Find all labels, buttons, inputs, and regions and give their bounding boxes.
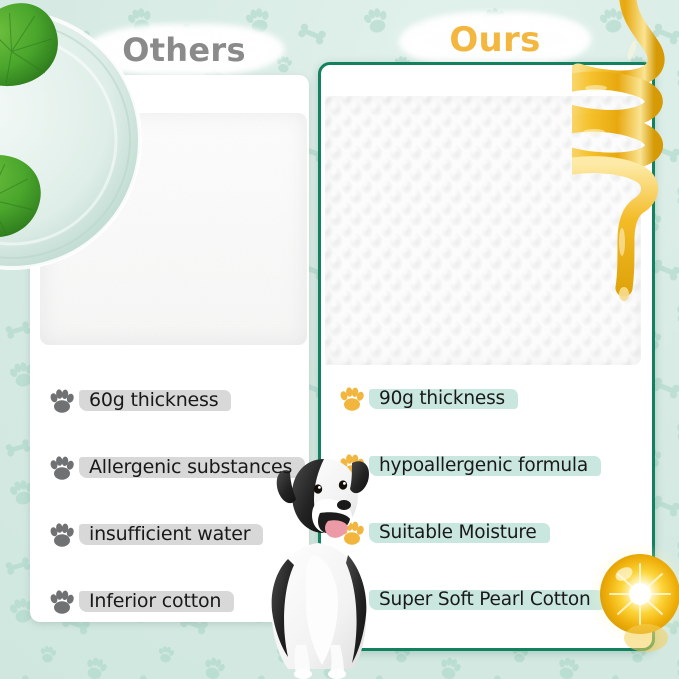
others-feature-list: 60g thickness Allergenic substances bbox=[48, 380, 310, 648]
feature-highlight: insufficient water bbox=[82, 522, 257, 548]
list-item: insufficient water bbox=[48, 514, 310, 556]
others-title-text: Others bbox=[122, 31, 246, 69]
paw-icon bbox=[48, 522, 76, 548]
ours-cotton-pad-image bbox=[325, 96, 641, 365]
paw-icon bbox=[48, 589, 76, 615]
feature-label: Inferior cotton bbox=[89, 590, 221, 612]
list-item: 90g thickness bbox=[338, 378, 638, 420]
feature-label: hypoallergenic formula bbox=[379, 455, 588, 476]
paw-icon bbox=[48, 455, 76, 481]
feature-label: Super Soft Pearl Cotton bbox=[379, 589, 591, 610]
paw-icon bbox=[338, 453, 366, 479]
feature-highlight: 90g thickness bbox=[372, 387, 512, 412]
paw-icon bbox=[338, 386, 366, 412]
fiber-texture bbox=[40, 113, 307, 345]
list-item: Inferior cotton bbox=[48, 581, 310, 623]
pearl-emboss-layer-2 bbox=[325, 96, 641, 365]
feature-highlight: hypoallergenic formula bbox=[372, 454, 595, 479]
feature-label: insufficient water bbox=[89, 523, 250, 545]
feature-highlight: Inferior cotton bbox=[82, 589, 228, 615]
feature-label: Allergenic substances bbox=[89, 456, 292, 478]
infographic-canvas: Others Ours bbox=[0, 0, 679, 679]
paw-icon bbox=[48, 388, 76, 414]
feature-highlight: Allergenic substances bbox=[82, 455, 299, 481]
feature-label: 90g thickness bbox=[379, 388, 505, 409]
feature-label: 60g thickness bbox=[89, 389, 218, 411]
ours-title-text: Ours bbox=[449, 20, 540, 60]
feature-highlight: Super Soft Pearl Cotton bbox=[372, 588, 598, 613]
list-item: hypoallergenic formula bbox=[338, 445, 638, 487]
others-title: Others bbox=[108, 26, 260, 74]
list-item: Super Soft Pearl Cotton bbox=[338, 579, 638, 621]
paw-icon bbox=[338, 587, 366, 613]
list-item: 60g thickness bbox=[48, 380, 310, 422]
list-item: Allergenic substances bbox=[48, 447, 310, 489]
list-item: Suitable Moisture bbox=[338, 512, 638, 554]
feature-label: Suitable Moisture bbox=[379, 522, 537, 543]
feature-highlight: 60g thickness bbox=[82, 388, 225, 414]
ours-title: Ours bbox=[422, 14, 568, 66]
ours-feature-list: 90g thickness hypoallergenic formula bbox=[338, 378, 638, 646]
paw-icon bbox=[338, 520, 366, 546]
feature-highlight: Suitable Moisture bbox=[372, 521, 544, 546]
others-cotton-pad-image bbox=[40, 113, 307, 345]
